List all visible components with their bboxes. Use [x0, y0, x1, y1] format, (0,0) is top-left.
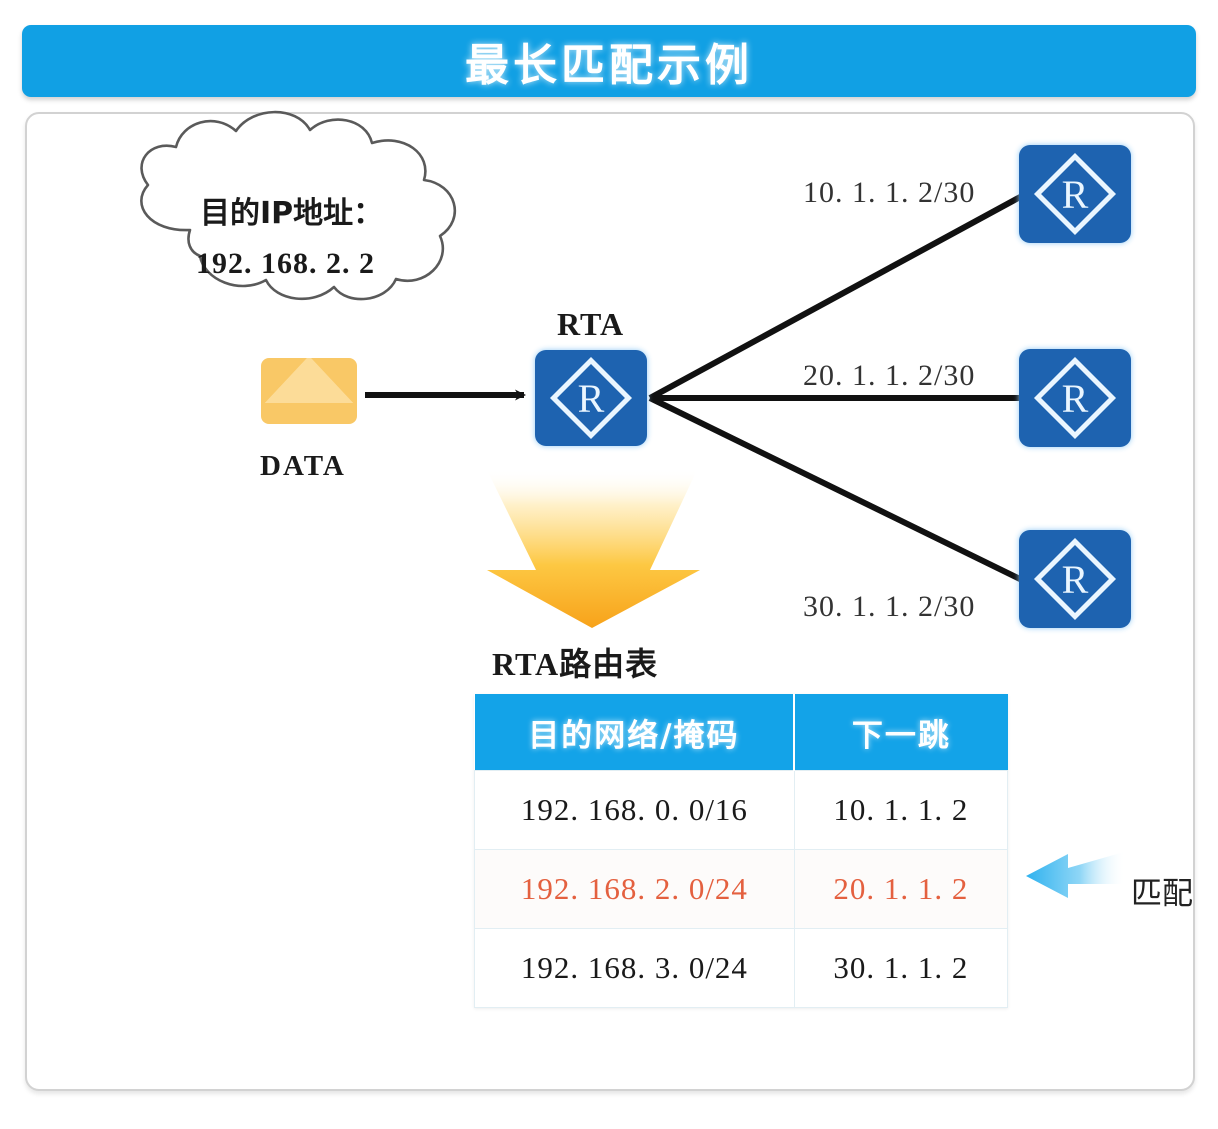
column-header-network: 目的网络/掩码 [475, 694, 795, 771]
envelope-icon [261, 358, 357, 424]
router-icon-1[interactable]: R [1019, 145, 1131, 243]
cell-network: 192. 168. 2. 0/24 [475, 850, 795, 929]
page-title: 最长匹配示例 [465, 29, 753, 93]
link-label-3: 30. 1. 1. 2/30 [803, 590, 975, 624]
match-annotation-label: 匹配 [1131, 868, 1193, 913]
destination-ip-value: 192. 168. 2. 2 [196, 247, 375, 281]
cell-network: 192. 168. 3. 0/24 [475, 929, 795, 1008]
router-letter: R [1019, 145, 1131, 243]
data-packet-label: DATA [260, 450, 346, 483]
rta-node-label: RTA [557, 306, 624, 343]
cell-next-hop: 20. 1. 1. 2 [794, 850, 1007, 929]
table-row[interactable]: 192. 168. 3. 0/24 30. 1. 1. 2 [475, 929, 1008, 1008]
envelope-flap [265, 358, 353, 403]
destination-ip-caption: 目的IP地址： [200, 188, 383, 232]
cell-next-hop: 10. 1. 1. 2 [794, 771, 1007, 850]
table-header-row: 目的网络/掩码 下一跳 [475, 694, 1008, 771]
link-label-1: 10. 1. 1. 2/30 [803, 176, 975, 210]
router-letter: R [1019, 349, 1131, 447]
router-icon-2[interactable]: R [1019, 349, 1131, 447]
table-row[interactable]: 192. 168. 2. 0/24 20. 1. 1. 2 [475, 850, 1008, 929]
table-row[interactable]: 192. 168. 0. 0/16 10. 1. 1. 2 [475, 771, 1008, 850]
link-label-2: 20. 1. 1. 2/30 [803, 359, 975, 393]
title-bar: 最长匹配示例 [22, 25, 1196, 97]
router-icon-3[interactable]: R [1019, 530, 1131, 628]
router-letter: R [535, 350, 647, 446]
cell-next-hop: 30. 1. 1. 2 [794, 929, 1007, 1008]
column-header-next-hop: 下一跳 [794, 694, 1007, 771]
routing-table: 目的网络/掩码 下一跳 192. 168. 0. 0/16 10. 1. 1. … [474, 694, 1008, 1008]
routing-table-caption: RTA路由表 [492, 639, 658, 685]
cell-network: 192. 168. 0. 0/16 [475, 771, 795, 850]
router-letter: R [1019, 530, 1131, 628]
router-icon-rta[interactable]: R [535, 350, 647, 446]
